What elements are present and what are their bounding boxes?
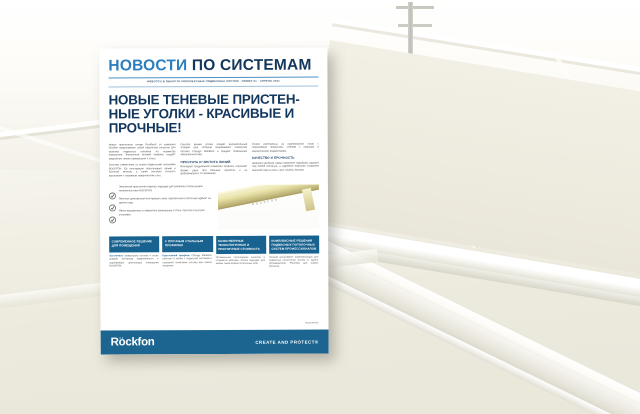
info-box-body: Пристенный профиль Chicago Metallic® раб… [162, 252, 212, 267]
info-box-body: Полный ассортимент комплектующих для под… [269, 253, 319, 268]
info-box-heading: СОВРЕМЕННОЕ РЕШЕНИЕ ДЛЯ ПОМЕЩЕНИЙ [109, 236, 159, 252]
paragraph: Скрытая кромка уголка создаёт выразитель… [180, 143, 247, 157]
product-photo: ROCKFON [218, 185, 319, 229]
masthead-subline: НОВОСТИ В ОБЛАСТИ КОМПЛЕКСНЫХ ПОДВЕСНЫХ … [108, 79, 318, 84]
info-box: КАЧЕСТВЕННЫЕ ТЕХНОЛОГИЧНЫЕ И ПРАКТИЧНЫЕ … [216, 236, 266, 268]
article-column-1: Новые пристенные уголки Rockfon® от комп… [109, 143, 176, 181]
paragraph: Новые пристенные уголки Rockfon® от комп… [109, 143, 176, 161]
masthead-title-part2: ПО СИСТЕМАМ [192, 57, 312, 75]
info-box-heading: КОМПЛЕКСНЫЕ РЕШЕНИЯ ПОДВЕСНЫХ ПОТОЛОЧНЫХ… [269, 236, 319, 254]
list-item-label: Явное выраженное и аккуратное примыкание… [119, 209, 212, 216]
article-column-3: Уголки изготовлены из оцинкованной стали… [252, 142, 319, 180]
list-item-label: Элегантная пристенная отделка, подходит … [119, 185, 212, 192]
article-subheading: КАЧЕСТВО И ПРОЧНОСТЬ [252, 156, 319, 160]
rockfon-logo-text: Rockfon [111, 336, 155, 348]
paragraph: Благодаря продуманной геометрии профиль … [181, 165, 248, 176]
list-item-label: Прочная, долговечная конструкция стали, … [119, 197, 212, 204]
info-boxes: СОВРЕМЕННОЕ РЕШЕНИЕ ДЛЯ ПОМЕЩЕНИЙ Эстети… [109, 236, 319, 269]
rockfon-logo[interactable]: Rockfon ·· [111, 336, 155, 348]
rockfon-logo-dots: ·· [119, 335, 124, 342]
paragraph: Уголки изготовлены из оцинкованной стали… [252, 142, 319, 153]
newsletter-leaflet[interactable]: НОВОСТИ ПО СИСТЕМАМ НОВОСТИ В ОБЛАСТИ КО… [99, 48, 328, 355]
profile-end-cap [302, 188, 315, 211]
info-box: КОМПЛЕКСНЫЕ РЕШЕНИЯ ПОДВЕСНЫХ ПОТОЛОЧНЫХ… [269, 236, 319, 268]
info-box-body: Эстетичное примыкание потолка к стене пр… [109, 252, 159, 267]
paragraph: Широкая цветовая гамма позволяет подобра… [252, 161, 319, 172]
info-box: С ПРОЧНЫМ СТАЛЬНЫМ ПРОФИЛЕМ Пристенный п… [162, 236, 212, 268]
article-column-2: Скрытая кромка уголка создаёт выразитель… [180, 143, 247, 181]
list-item: Явное выраженное и аккуратное примыкание… [109, 209, 212, 217]
check-circle-icon [109, 186, 116, 193]
article-columns: Новые пристенные уголки Rockfon® от комп… [109, 142, 319, 180]
leaflet-footer: Rockfon ·· CREATE AND PROTECT® [101, 330, 329, 355]
list-item: Элегантная пристенная отделка, подходит … [109, 185, 212, 193]
info-box-text: Оптимальное соотношение качества и стоим… [216, 255, 265, 265]
hanger-bracket-top [396, 6, 434, 9]
article-subheading: ПРОСТОТА И ЧИСТОТА ЛИНИЙ [180, 160, 247, 164]
info-box-heading: КАЧЕСТВЕННЫЕ ТЕХНОЛОГИЧНЫЕ И ПРАКТИЧНЫЕ … [216, 236, 266, 254]
info-box-heading: С ПРОЧНЫМ СТАЛЬНЫМ ПРОФИЛЕМ [162, 236, 212, 252]
paragraph: Система совместима со всеми подвесными п… [109, 163, 176, 177]
masthead: НОВОСТИ ПО СИСТЕМАМ НОВОСТИ В ОБЛАСТИ КО… [99, 48, 327, 87]
info-box-text: Полный ассортимент комплектующих для под… [269, 255, 318, 268]
feature-bullet-list: Элегантная пристенная отделка, подходит … [109, 185, 212, 229]
tagline: CREATE AND PROTECT® [255, 339, 318, 344]
hanger-bracket-mid [398, 24, 432, 27]
check-circle-icon [109, 210, 116, 217]
footnote: ROCKFON® [305, 323, 318, 326]
screenshot-scene: НОВОСТИ ПО СИСТЕМАМ НОВОСТИ В ОБЛАСТИ КО… [0, 0, 640, 414]
check-circle-icon [109, 198, 116, 205]
masthead-rule-bottom [108, 85, 318, 87]
headline: НОВЫЕ ТЕНЕВЫЕ ПРИСТЕН-НЫЕ УГОЛКИ - КРАСИ… [109, 92, 319, 136]
list-item: Прочная, долговечная конструкция стали, … [109, 197, 212, 205]
info-box-body: Оптимальное соотношение качества и стоим… [216, 253, 266, 265]
features-and-product: Элегантная пристенная отделка, подходит … [109, 185, 319, 230]
masthead-rule-top [108, 76, 318, 78]
masthead-title-part1: НОВОСТИ [108, 57, 187, 74]
info-box: СОВРЕМЕННОЕ РЕШЕНИЕ ДЛЯ ПОМЕЩЕНИЙ Эстети… [109, 236, 159, 268]
masthead-title: НОВОСТИ ПО СИСТЕМАМ [108, 58, 318, 74]
